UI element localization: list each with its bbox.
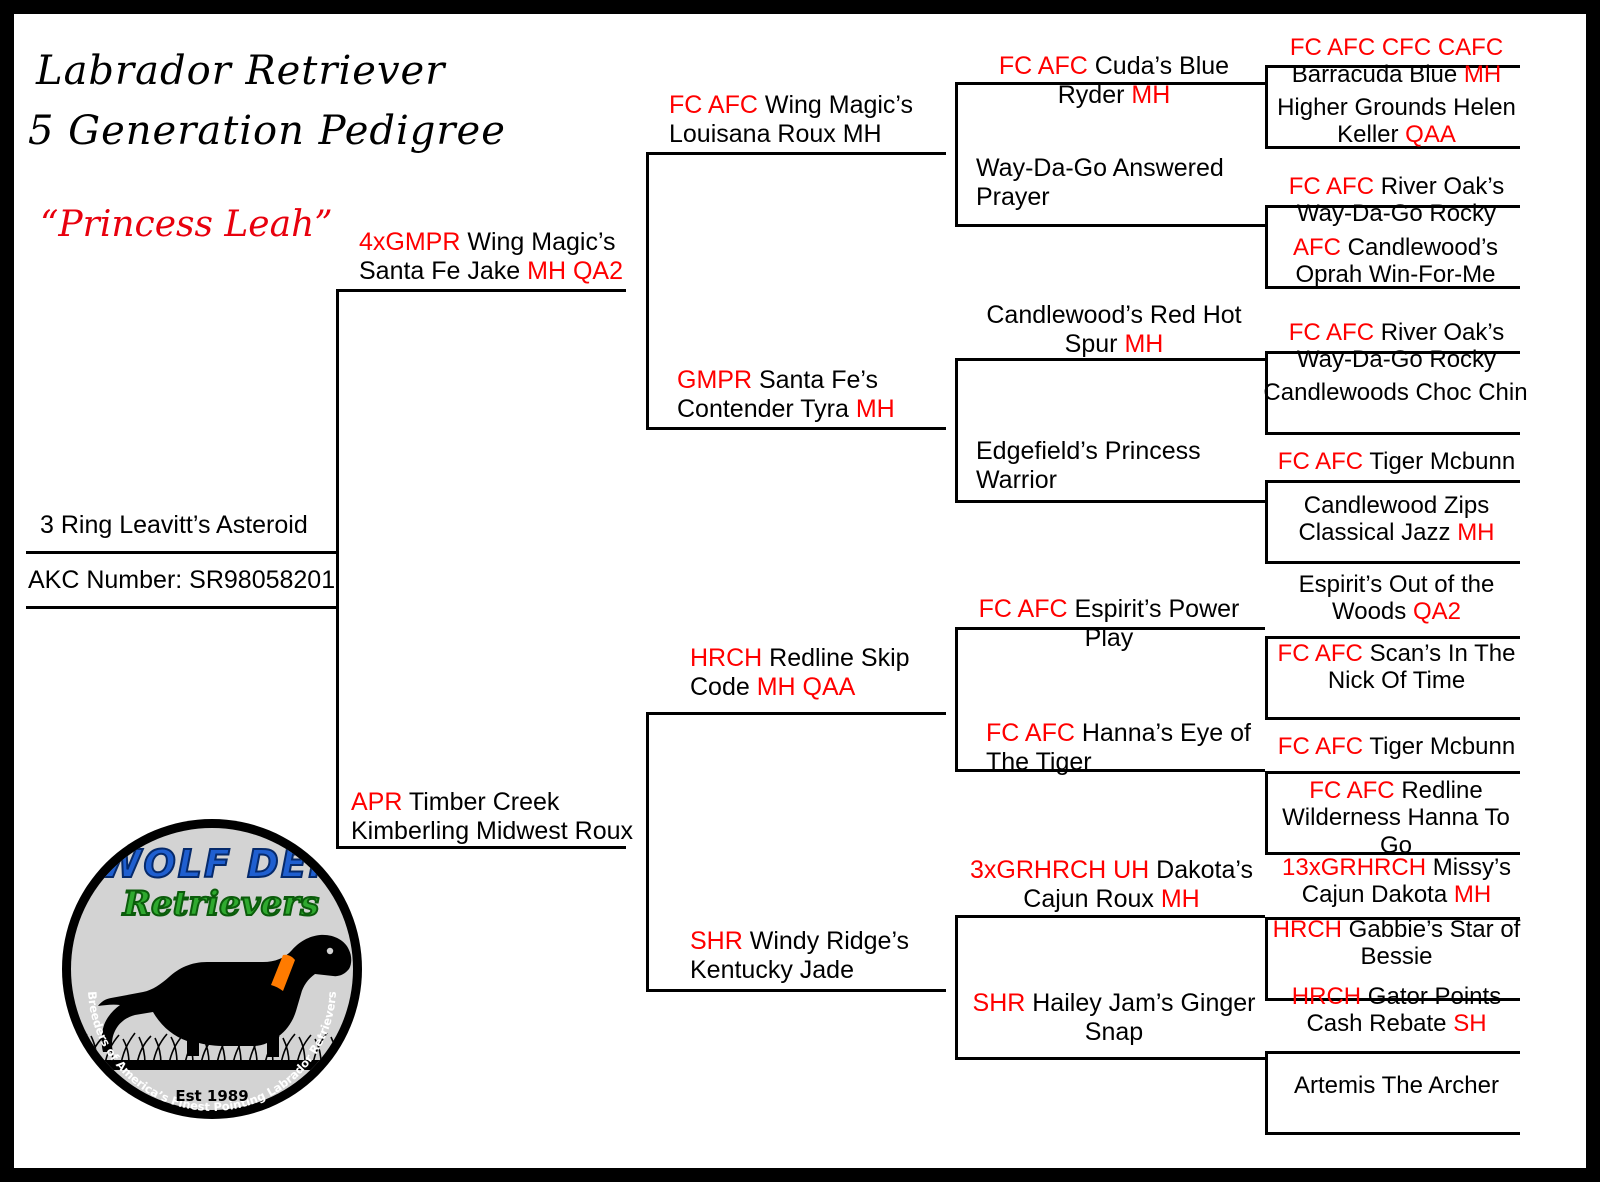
bracket-g3-4-bottom xyxy=(955,1057,1265,1060)
g4-5: FC AFC Espirit’s Power Play xyxy=(954,595,1264,652)
g5-2: Higher Grounds Helen Keller QAA xyxy=(1269,94,1524,149)
g5-10: FC AFC Scan’s In The Nick Of Time xyxy=(1269,640,1524,695)
page-title-line1: Labrador Retriever xyxy=(36,48,445,94)
bracket-g3-1-vertical xyxy=(955,82,958,227)
g5-5: FC AFC River Oak’s Way-Da-Go Rocky xyxy=(1269,319,1524,374)
g3-sire-dam: GMPR Santa Fe’s Contender Tyra MH xyxy=(677,366,962,423)
g5-1: FC AFC CFC CAFC Barracuda Blue MH xyxy=(1269,34,1524,89)
g5-13: 13xGRHRCH Missy’s Cajun Dakota MH xyxy=(1269,854,1524,909)
bracket-g4-5-bottom xyxy=(1265,717,1520,720)
bracket-g3-2-vertical xyxy=(955,358,958,503)
g5-16: Artemis The Archer xyxy=(1269,1072,1524,1099)
g2-sire: 4xGMPR Wing Magic’s Santa Fe Jake MH QA2 xyxy=(359,228,644,285)
g4-4: Edgefield’s Princess Warrior xyxy=(976,437,1266,494)
g3-sire-sire: FC AFC Wing Magic’s Louisana Roux MH xyxy=(669,91,959,148)
bracket-g1-bottom xyxy=(336,846,626,849)
g4-8: SHR Hailey Jam’s Ginger Snap xyxy=(964,989,1264,1046)
bracket-g4-7-vertical xyxy=(1265,917,1268,1001)
bracket-g3-1-bottom xyxy=(955,224,1265,227)
g5-8: Candlewood Zips Classical Jazz MH xyxy=(1269,492,1524,547)
page-title-line2: 5 Generation Pedigree xyxy=(28,108,506,154)
g3-dam-sire: HRCH Redline Skip Code MH QAA xyxy=(690,644,970,701)
bracket-g2-sire-top xyxy=(646,152,946,155)
g4-6: FC AFC Hanna’s Eye of The Tiger xyxy=(986,719,1266,776)
subject-call-name: “Princess Leah” xyxy=(40,204,333,245)
bracket-g4-8-vertical xyxy=(1265,1051,1268,1135)
bracket-g4-6-top xyxy=(1265,771,1520,774)
bracket-g4-8-bottom xyxy=(1265,1132,1520,1135)
g4-3: Candlewood’s Red Hot Spur MH xyxy=(964,301,1264,358)
g2-dam: APR Timber Creek Kimberling Midwest Roux xyxy=(351,788,646,845)
bracket-g3-2-top xyxy=(955,358,1265,361)
subject-dog-name: 3 Ring Leavitt’s Asteroid xyxy=(40,511,330,540)
bracket-g4-4-bottom xyxy=(1265,561,1520,564)
g5-12: FC AFC Redline Wilderness Hanna To Go xyxy=(1265,777,1527,859)
g4-7: 3xGRHRCH UH Dakota’s Cajun Roux MH xyxy=(959,856,1264,913)
bracket-g4-8-top xyxy=(1265,1051,1520,1054)
pedigree-canvas: Labrador Retriever 5 Generation Pedigree… xyxy=(14,14,1586,1168)
logo-tagline-arc: Breeders of America’s Finest Pointing La… xyxy=(62,819,362,1119)
bracket-g4-3-bottom xyxy=(1265,432,1520,435)
bracket-g3-2-bottom xyxy=(955,500,1265,503)
g5-11: FC AFC Tiger Mcbunn xyxy=(1269,733,1524,760)
bracket-g4-5-top xyxy=(1265,636,1520,639)
g5-6: Candlewoods Choc Chin xyxy=(1263,379,1528,406)
bracket-g2-dam-top xyxy=(646,712,946,715)
bracket-g2-dam-vertical xyxy=(646,712,649,990)
bracket-g3-4-vertical xyxy=(955,915,958,1060)
subject-underline xyxy=(26,551,336,554)
bracket-g1-top xyxy=(336,289,626,292)
g5-15: HRCH Gator Points Cash Rebate SH xyxy=(1269,983,1524,1038)
pedigree-page: Labrador Retriever 5 Generation Pedigree… xyxy=(0,0,1600,1182)
g3-dam-dam: SHR Windy Ridge’s Kentucky Jade xyxy=(690,927,970,984)
bracket-g1-vertical xyxy=(336,289,339,849)
g5-4: AFC Candlewood’s Oprah Win-For-Me xyxy=(1263,234,1528,289)
subject-akc-underline xyxy=(26,606,336,609)
logo-established-year: Est 1989 xyxy=(62,1087,362,1105)
bracket-g2-dam-bottom xyxy=(646,989,946,992)
bracket-g2-sire-vertical xyxy=(646,152,649,430)
g5-7: FC AFC Tiger Mcbunn xyxy=(1269,448,1524,475)
bracket-g4-1-vertical xyxy=(1265,65,1268,149)
wolf-den-retrievers-logo: WOLF DEN Retrievers Breeders of America’… xyxy=(62,819,362,1119)
g5-14: HRCH Gabbie’s Star of Bessie xyxy=(1269,916,1524,971)
bracket-g2-sire-bottom xyxy=(646,427,946,430)
bracket-g4-4-top xyxy=(1265,480,1520,483)
bracket-g3-4-top xyxy=(955,915,1265,918)
bracket-g4-4-vertical xyxy=(1265,480,1268,564)
subject-akc-number: AKC Number: SR98058201 xyxy=(28,566,338,595)
g4-1: FC AFC Cuda’s Blue Ryder MH xyxy=(964,52,1264,109)
g4-2: Way-Da-Go Answered Prayer xyxy=(976,154,1266,211)
bracket-g4-5-vertical xyxy=(1265,636,1268,720)
g5-9: Espirit’s Out of the Woods QA2 xyxy=(1269,571,1524,626)
g5-3: FC AFC River Oak’s Way-Da-Go Rocky xyxy=(1269,173,1524,228)
